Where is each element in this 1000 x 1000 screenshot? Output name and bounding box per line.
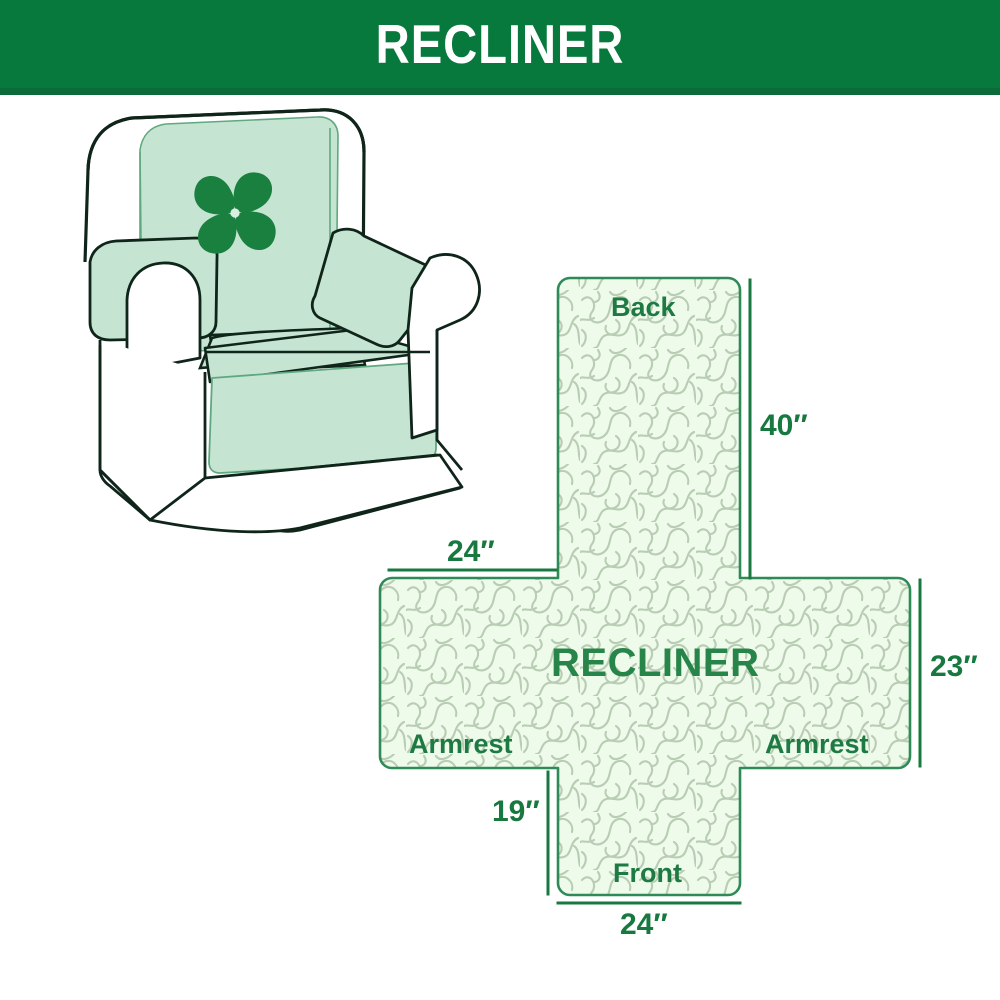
chair-base-left bbox=[100, 345, 150, 520]
chair-base-front-simple bbox=[150, 455, 462, 532]
header-underline bbox=[0, 88, 1000, 95]
dimension-label-back-height: 40″ bbox=[760, 409, 808, 443]
pinwheel-fan-logo bbox=[194, 172, 275, 253]
panel-label-armrest-right: Armrest bbox=[765, 729, 869, 760]
chair-illustration bbox=[0, 0, 1000, 1000]
chair-seat-cover bbox=[210, 330, 365, 372]
chair-back-cover bbox=[140, 117, 338, 352]
logo-blade-1 bbox=[234, 172, 272, 212]
cover-cross-outline bbox=[380, 278, 910, 895]
panel-label-back: Back bbox=[611, 292, 676, 323]
chair-seat-top bbox=[200, 328, 395, 368]
logo-blade-3 bbox=[198, 213, 236, 253]
chair-right-outline bbox=[437, 330, 462, 470]
header-banner: RECLINER bbox=[0, 0, 1000, 95]
logo-hub bbox=[230, 208, 239, 217]
chair-back-top-edge bbox=[88, 110, 364, 170]
dimension-label-center-height: 23″ bbox=[930, 650, 978, 684]
chair-group bbox=[85, 110, 479, 532]
chair-left-armrest-top bbox=[90, 238, 217, 340]
panel-label-front: Front bbox=[613, 858, 682, 889]
panel-label-armrest-left: Armrest bbox=[409, 729, 513, 760]
logo-blade-4 bbox=[194, 176, 234, 214]
page-title: RECLINER bbox=[70, 0, 930, 88]
dimension-label-front-height: 19″ bbox=[492, 795, 540, 829]
chair-back-outline bbox=[85, 110, 364, 300]
chair-front-skirt bbox=[209, 362, 437, 473]
chair-seat-surface bbox=[205, 330, 430, 382]
product-dimension-diagram: RECLINER bbox=[0, 0, 1000, 1000]
chair-left-side-panel bbox=[100, 340, 205, 520]
measurement-lines bbox=[389, 280, 920, 903]
product-name-label: RECLINER bbox=[551, 641, 759, 686]
chair-left-side-panel-edge bbox=[100, 470, 150, 520]
dimension-label-front-width: 24″ bbox=[620, 908, 668, 942]
dimension-label-armrest-width: 24″ bbox=[447, 535, 495, 569]
logo-blade-2 bbox=[235, 212, 275, 250]
cover-pattern-shape bbox=[380, 278, 910, 895]
chair-base-front bbox=[150, 455, 460, 531]
chair-right-armrest-top bbox=[312, 229, 441, 346]
chair-left-armrest-roll bbox=[127, 263, 200, 372]
chair-right-armrest-roll bbox=[408, 255, 479, 438]
